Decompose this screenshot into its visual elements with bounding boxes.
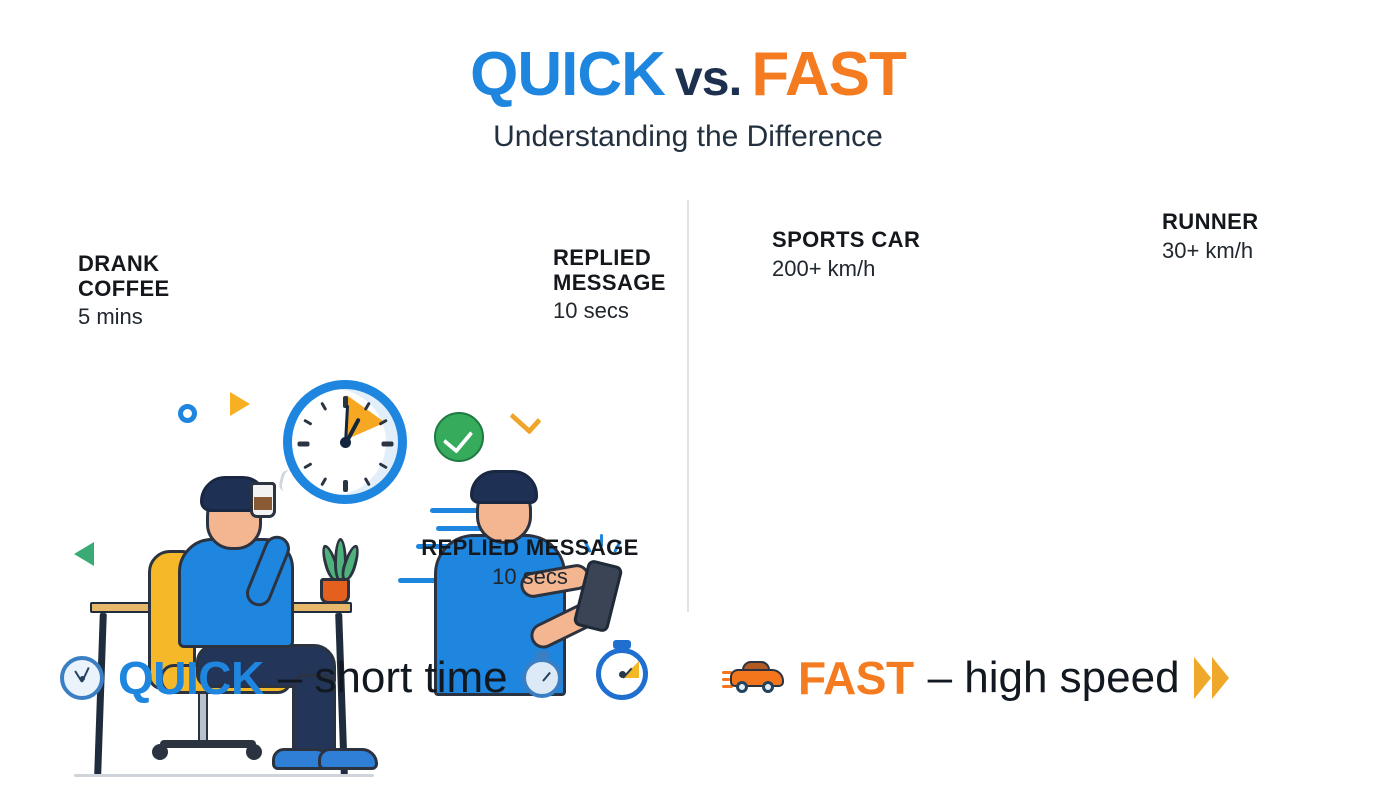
infographic-canvas: QUICKvs.FAST Understanding the Differenc… (0, 0, 1376, 768)
plant-pot (320, 578, 350, 604)
office-chair-wheel (152, 744, 168, 760)
wall-clock-icon (283, 380, 407, 504)
footer-fast-banner: FAST – high speed (722, 636, 1240, 720)
title-fast: FAST (751, 40, 905, 109)
label-drank-coffee-line1: DRANK (78, 252, 170, 277)
green-check-icon (434, 412, 484, 462)
yellow-triangle-accent-icon (230, 392, 250, 416)
label-drank-coffee: DRANK COFFEE 5 mins (78, 252, 170, 331)
blue-circle-accent-icon (178, 404, 197, 423)
car-icon (722, 661, 784, 695)
label-replied-top-value: 10 secs (553, 298, 666, 324)
yellow-check-accent-icon (509, 403, 541, 434)
green-triangle-accent-icon (74, 542, 94, 566)
footer-quick-word: QUICK (118, 651, 264, 705)
double-chevron-icon (1194, 657, 1240, 699)
label-replied-top-line2: MESSAGE (553, 271, 666, 296)
label-replied-bottom-heading: REPLIED MESSAGE (414, 536, 646, 561)
footer-quick-rest: – short time (278, 653, 508, 703)
footer-quick-banner: QUICK – short time (60, 636, 562, 720)
title-vs: vs. (675, 50, 742, 106)
page-title: QUICKvs.FAST (0, 44, 1376, 106)
label-replied-top-line1: REPLIED (553, 246, 666, 271)
header: QUICKvs.FAST Understanding the Differenc… (0, 44, 1376, 154)
label-replied-message-top: REPLIED MESSAGE 10 secs (553, 246, 666, 325)
label-drank-coffee-value: 5 mins (78, 304, 170, 330)
label-runner-value: 30+ km/h (1162, 238, 1259, 264)
label-sports-car-heading: SPORTS CAR (772, 228, 920, 253)
coffee-cup-icon (250, 482, 276, 518)
label-replied-message-bottom: REPLIED MESSAGE 10 secs (414, 536, 646, 590)
floor-line (74, 774, 374, 777)
label-runner: RUNNER 30+ km/h (1162, 210, 1259, 264)
label-sports-car-value: 200+ km/h (772, 256, 920, 282)
coffee-man-shoe (318, 748, 378, 770)
page-subtitle: Understanding the Difference (0, 120, 1376, 154)
footer-fast-rest: – high speed (928, 653, 1180, 703)
label-runner-heading: RUNNER (1162, 210, 1259, 235)
footer-fast-word: FAST (798, 651, 914, 705)
office-chair-wheel (246, 744, 262, 760)
stopwatch-icon (522, 658, 562, 698)
footer: QUICK – short time FAST – high speed (0, 636, 1376, 720)
texting-man-hair (470, 470, 538, 504)
title-quick: QUICK (470, 40, 665, 109)
clock-icon (60, 656, 104, 700)
label-replied-bottom-value: 10 secs (414, 564, 646, 590)
label-sports-car: SPORTS CAR 200+ km/h (772, 228, 920, 282)
office-chair-base (160, 740, 256, 748)
steam-accent (278, 469, 298, 494)
label-drank-coffee-line2: COFFEE (78, 277, 170, 302)
